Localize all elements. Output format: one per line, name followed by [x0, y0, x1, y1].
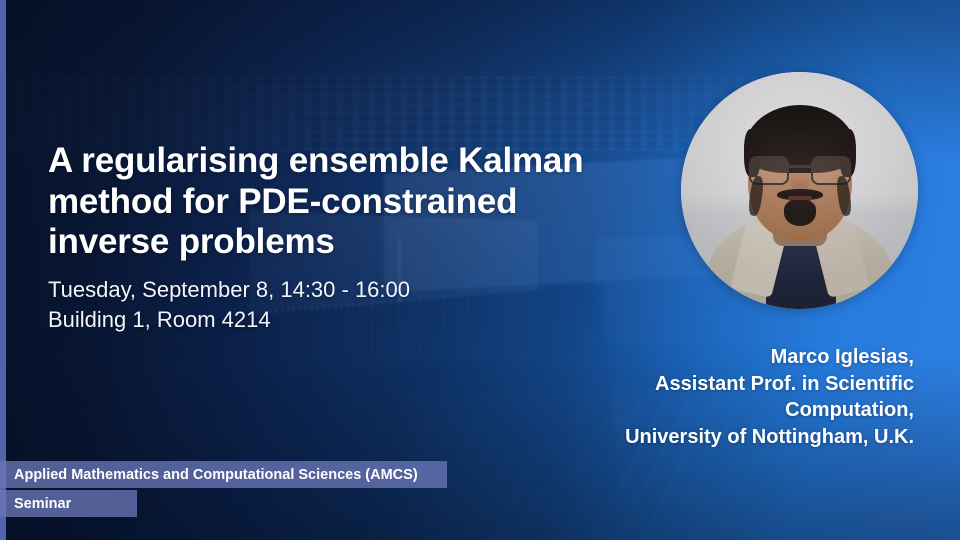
seminar-poster: A regularising ensemble Kalman method fo… [0, 0, 960, 540]
speaker-role-continued: Computation, [494, 397, 914, 424]
page-title: A regularising ensemble Kalman method fo… [48, 141, 608, 263]
speaker-role: Assistant Prof. in Scientific [494, 371, 914, 398]
schedule-block: Tuesday, September 8, 14:30 - 16:00 Buil… [48, 275, 410, 336]
schedule-datetime: Tuesday, September 8, 14:30 - 16:00 [48, 275, 410, 305]
poster-content: A regularising ensemble Kalman method fo… [0, 0, 960, 540]
department-label: Applied Mathematics and Computational Sc… [14, 467, 418, 483]
avatar [681, 72, 918, 309]
speaker-affiliation: University of Nottingham, U.K. [494, 424, 914, 451]
speaker-name: Marco Iglesias, [494, 344, 914, 371]
portrait-shading [681, 72, 918, 309]
event-type-banner: Seminar [0, 490, 137, 517]
schedule-location: Building 1, Room 4214 [48, 305, 410, 335]
department-banner: Applied Mathematics and Computational Sc… [0, 461, 447, 488]
event-type-label: Seminar [14, 496, 71, 512]
speaker-block: Marco Iglesias, Assistant Prof. in Scien… [494, 344, 914, 450]
